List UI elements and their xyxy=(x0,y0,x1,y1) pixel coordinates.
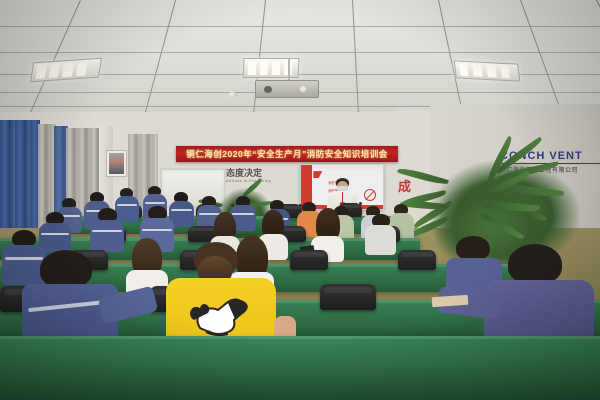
wall-slogan-chinese: 态度决定 xyxy=(226,168,262,178)
wall-slogan: 态度决定 Attitude Is Everything xyxy=(226,166,271,183)
smoke-detector xyxy=(228,92,237,98)
wall-accent-character: 成 xyxy=(398,176,411,195)
table-foreground xyxy=(0,336,600,400)
chair xyxy=(290,250,328,270)
cartoon-dog-graphic xyxy=(186,294,256,342)
event-banner: 铜仁海创2020年“安全生产月”消防安全知识培训会 xyxy=(176,146,398,162)
slide-flag-mark xyxy=(313,171,322,178)
conference-room-photo: 铜仁海创2020年“安全生产月”消防安全知识培训会 态度决定 Attitude … xyxy=(0,0,600,400)
no-smoking-icon xyxy=(364,189,376,201)
banner-text: 铜仁海创2020年“安全生产月”消防安全知识培训会 xyxy=(186,148,387,160)
light-panel xyxy=(454,60,521,81)
light-panel xyxy=(30,58,102,83)
light-panel xyxy=(242,58,299,78)
slide-header-bar xyxy=(312,165,383,169)
ceiling-projector xyxy=(255,80,319,98)
wall-slogan-english: Attitude Is Everything xyxy=(226,179,271,183)
chair xyxy=(320,284,376,310)
projector-mount-pole xyxy=(288,58,290,80)
chair xyxy=(398,250,436,270)
framed-landscape-artwork xyxy=(106,150,127,177)
